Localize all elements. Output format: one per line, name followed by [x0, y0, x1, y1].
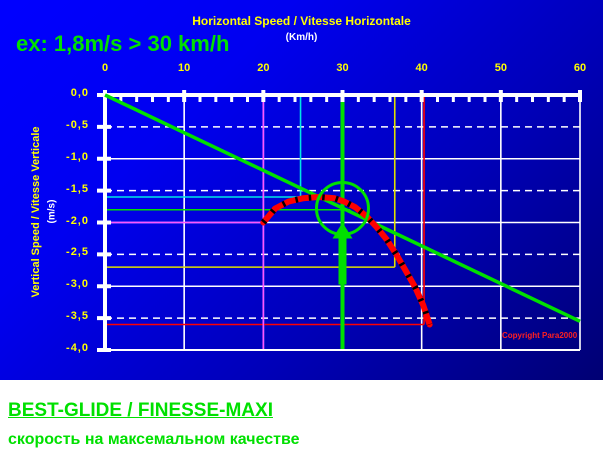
best-glide-arrow-shaft [339, 236, 347, 284]
plot-area [0, 0, 603, 380]
axes [97, 90, 580, 350]
footer-subtitle: скорость на максемальном качестве [8, 431, 300, 449]
best-glide-arrow-head [333, 222, 353, 238]
footer-title: BEST-GLIDE / FINESSE-MAXI [8, 400, 273, 422]
chart-panel: Horizontal Speed / Vitesse Horizontale (… [0, 0, 603, 380]
footer-caption: BEST-GLIDE / FINESSE-MAXI скорость на ма… [0, 380, 603, 463]
chart-screenshot: Horizontal Speed / Vitesse Horizontale (… [0, 0, 603, 463]
copyright-notice: Copyright Para2000 [502, 331, 577, 340]
